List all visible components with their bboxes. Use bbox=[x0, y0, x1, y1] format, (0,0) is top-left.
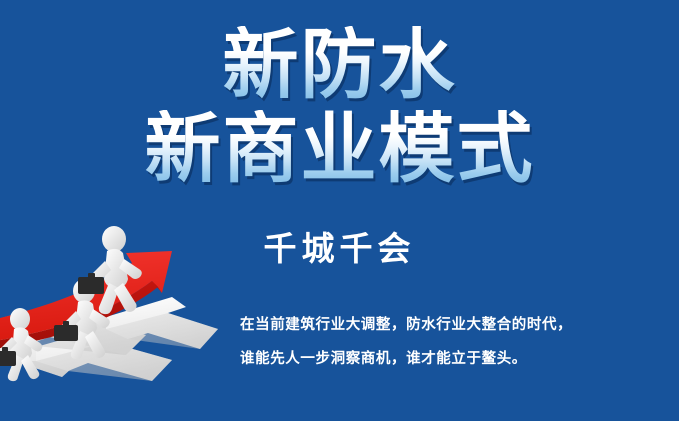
subtitle: 千城千会 bbox=[0, 222, 679, 270]
body-line-1: 在当前建筑行业大调整，防水行业大整合的时代， bbox=[240, 308, 660, 342]
body-copy: 在当前建筑行业大调整，防水行业大整合的时代， 谁能先人一步洞察商机，谁才能立于鳌… bbox=[240, 308, 660, 376]
body-line-2: 谁能先人一步洞察商机，谁才能立于鳌头。 bbox=[240, 342, 660, 376]
title-line-2: 新商业模式 bbox=[0, 110, 679, 188]
promo-banner: 新防水 新商业模式 千城千会 在当前建筑行业大调整，防水行业大整合的时代， 谁能… bbox=[0, 0, 679, 421]
page-title: 新防水 新商业模式 bbox=[0, 26, 679, 187]
title-line-1: 新防水 bbox=[0, 26, 679, 104]
